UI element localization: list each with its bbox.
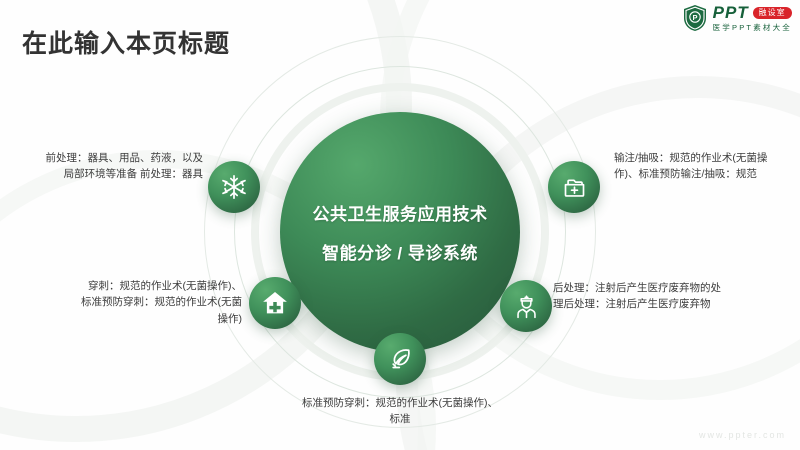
label-post-treatment: 后处理：注射后产生医疗废弃物的处理后处理：注射后产生医疗废弃物 (553, 280, 725, 313)
logo-tagline: 医学PPT素材大全 (713, 24, 792, 32)
node-post-treatment[interactable] (500, 280, 552, 332)
slide-canvas: 在此输入本页标题 P PPT 融设室 医学PPT素材大全 公共卫生服务应用技术 … (0, 0, 800, 450)
center-circle: 公共卫生服务应用技术 智能分诊 / 导诊系统 (280, 112, 520, 352)
node-puncture[interactable] (249, 277, 301, 329)
label-infusion: 输注/抽吸：规范的作业术(无菌操作)、标准预防输注/抽吸：规范 (614, 150, 786, 183)
label-pre-treatment: 前处理：器具、用品、药液，以及局部环境等准备 前处理：器具 (38, 150, 203, 183)
shield-logo-icon: P (682, 4, 708, 32)
center-title-line-2: 智能分诊 / 导诊系统 (322, 239, 478, 264)
center-title-line-1: 公共卫生服务应用技术 (313, 200, 488, 225)
node-standard-prevention[interactable] (374, 333, 426, 385)
node-pre-treatment[interactable] (208, 161, 260, 213)
logo-text-block: PPT 融设室 医学PPT素材大全 (713, 4, 792, 32)
hospital-plus-icon (260, 288, 290, 318)
medical-kit-plus-icon (561, 174, 588, 201)
label-standard-prevention: 标准预防穿刺：规范的作业术(无菌操作)、标准 (300, 395, 500, 428)
snowflake-icon (220, 173, 248, 201)
page-title: 在此输入本页标题 (22, 24, 230, 60)
node-infusion[interactable] (548, 161, 600, 213)
feather-quill-icon (386, 345, 414, 373)
logo-badge: 融设室 (753, 7, 792, 19)
footer-watermark: www.ppter.com (699, 430, 786, 440)
svg-text:P: P (692, 13, 697, 22)
label-puncture: 穿刺：规范的作业术(无菌操作)、标准预防穿刺：规范的作业术(无菌操作) (80, 278, 242, 327)
brand-logo: P PPT 融设室 医学PPT素材大全 (682, 4, 792, 32)
logo-brand-text: PPT (713, 4, 749, 21)
doctor-icon (512, 292, 541, 321)
